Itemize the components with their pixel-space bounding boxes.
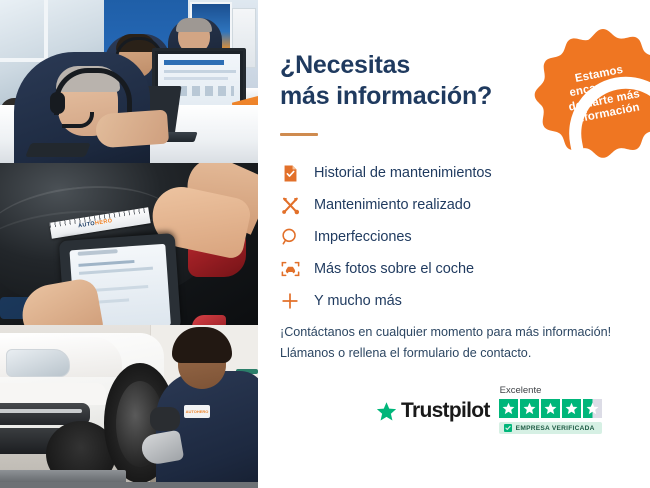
feature-label: Imperfecciones xyxy=(314,229,412,245)
verified-company-badge: EMPRESA VERIFICADA xyxy=(499,422,602,434)
info-badge: Estamos encantados de darte más informac… xyxy=(534,26,650,164)
trustpilot-star-1 xyxy=(499,399,518,418)
trustpilot-star-5-half xyxy=(583,399,602,418)
feature-label: Mantenimiento realizado xyxy=(314,197,471,213)
call-center-agents-photo xyxy=(0,0,258,163)
trustpilot-wordmark: Trustpilot xyxy=(401,399,490,423)
trustpilot-star-3 xyxy=(541,399,560,418)
feature-label: Historial de mantenimientos xyxy=(314,165,492,181)
document-check-icon xyxy=(280,162,300,184)
feature-item-much-more: Y mucho más xyxy=(280,285,600,317)
tools-cross-icon xyxy=(280,194,300,216)
workshop-technician-wheel-photo: AUTOHERO xyxy=(0,325,258,488)
feature-list: Historial de mantenimientos M xyxy=(280,157,600,317)
magnifier-icon xyxy=(280,226,300,248)
feature-item-imperfections: Imperfecciones xyxy=(280,221,600,253)
trustpilot-logo: Trustpilot xyxy=(376,399,490,434)
contact-line-1: ¡Contáctanos en cualquier momento para m… xyxy=(280,322,640,343)
car-inspection-ruler-tablet-photo: AUTOHERO xyxy=(0,163,258,325)
trustpilot-stars xyxy=(499,399,602,418)
verified-company-label: EMPRESA VERIFICADA xyxy=(516,425,595,432)
ruler-brand-primary: AUTO xyxy=(78,221,96,230)
page-title-line-2: más información? xyxy=(280,82,492,110)
feature-label: Y mucho más xyxy=(314,293,402,309)
promo-card: AUTOHERO xyxy=(0,0,650,488)
trustpilot-star-icon xyxy=(376,401,397,422)
trustpilot-rating-label: Excelente xyxy=(499,385,542,396)
content-panel: Estamos encantados de darte más informac… xyxy=(258,0,650,488)
car-scan-icon xyxy=(280,258,300,280)
plus-icon xyxy=(280,290,300,312)
ruler-brand-secondary: HERO xyxy=(95,218,113,227)
title-underline-rule xyxy=(280,133,318,136)
page-title-line-1: ¿Necesitas xyxy=(280,51,410,79)
trustpilot-star-2 xyxy=(520,399,539,418)
verified-check-icon xyxy=(504,424,512,432)
photo-column: AUTOHERO xyxy=(0,0,258,488)
page-title: ¿Necesitas más información? xyxy=(280,50,492,111)
feature-item-more-photos: Más fotos sobre el coche xyxy=(280,253,600,285)
feature-label: Más fotos sobre el coche xyxy=(314,261,474,277)
trustpilot-rating: Trustpilot Excelente EMPRESA VERIFICADA xyxy=(376,385,626,434)
contact-text: ¡Contáctanos en cualquier momento para m… xyxy=(280,322,640,364)
contact-line-2: Llámanos o rellena el formulario de cont… xyxy=(280,343,640,364)
trustpilot-star-4 xyxy=(562,399,581,418)
feature-item-maintenance-done: Mantenimiento realizado xyxy=(280,189,600,221)
